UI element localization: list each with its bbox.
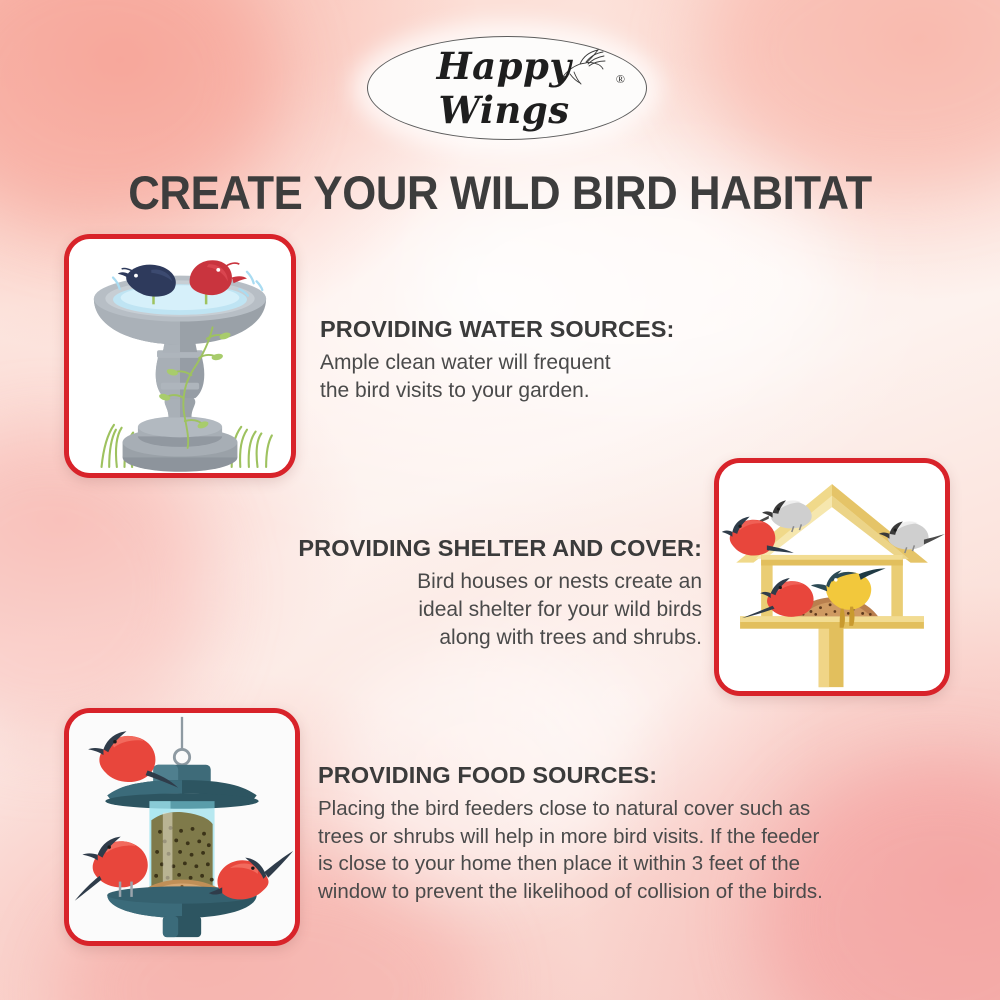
- hanging-feeder-image-card: [64, 708, 300, 946]
- section-water-heading: PROVIDING WATER SOURCES:: [320, 316, 740, 343]
- section-food-heading: PROVIDING FOOD SOURCES:: [318, 762, 954, 789]
- bird-bath-illustration: [69, 239, 291, 473]
- background-wash: [700, 0, 1000, 190]
- bird-house-image-card: [714, 458, 950, 696]
- page-title: CREATE YOUR WILD BIRD HABITAT: [35, 165, 965, 220]
- section-food-text: PROVIDING FOOD SOURCES: Placing the bird…: [318, 762, 954, 906]
- section-water-text: PROVIDING WATER SOURCES: Ample clean wat…: [320, 316, 740, 405]
- background-wash: [0, 430, 210, 750]
- brand-logo: Happy Wings ®: [367, 36, 647, 140]
- bird-bath-image-card: [64, 234, 296, 478]
- registered-trademark-icon: ®: [616, 72, 625, 87]
- section-shelter-text: PROVIDING SHELTER AND COVER: Bird houses…: [246, 535, 702, 652]
- brand-logo-text: Happy Wings: [368, 44, 646, 132]
- section-shelter-heading: PROVIDING SHELTER AND COVER:: [246, 535, 702, 562]
- hanging-tube-feeder-illustration: [69, 713, 295, 941]
- bird-house-feeder-illustration: [719, 463, 945, 691]
- section-water-body: Ample clean water will frequent the bird…: [320, 349, 740, 405]
- section-shelter-body: Bird houses or nests create an ideal she…: [246, 568, 702, 652]
- section-food-body: Placing the bird feeders close to natura…: [318, 795, 954, 906]
- infographic-poster: Happy Wings ® CREATE YOUR WILD BIRD HABI…: [0, 0, 1000, 1000]
